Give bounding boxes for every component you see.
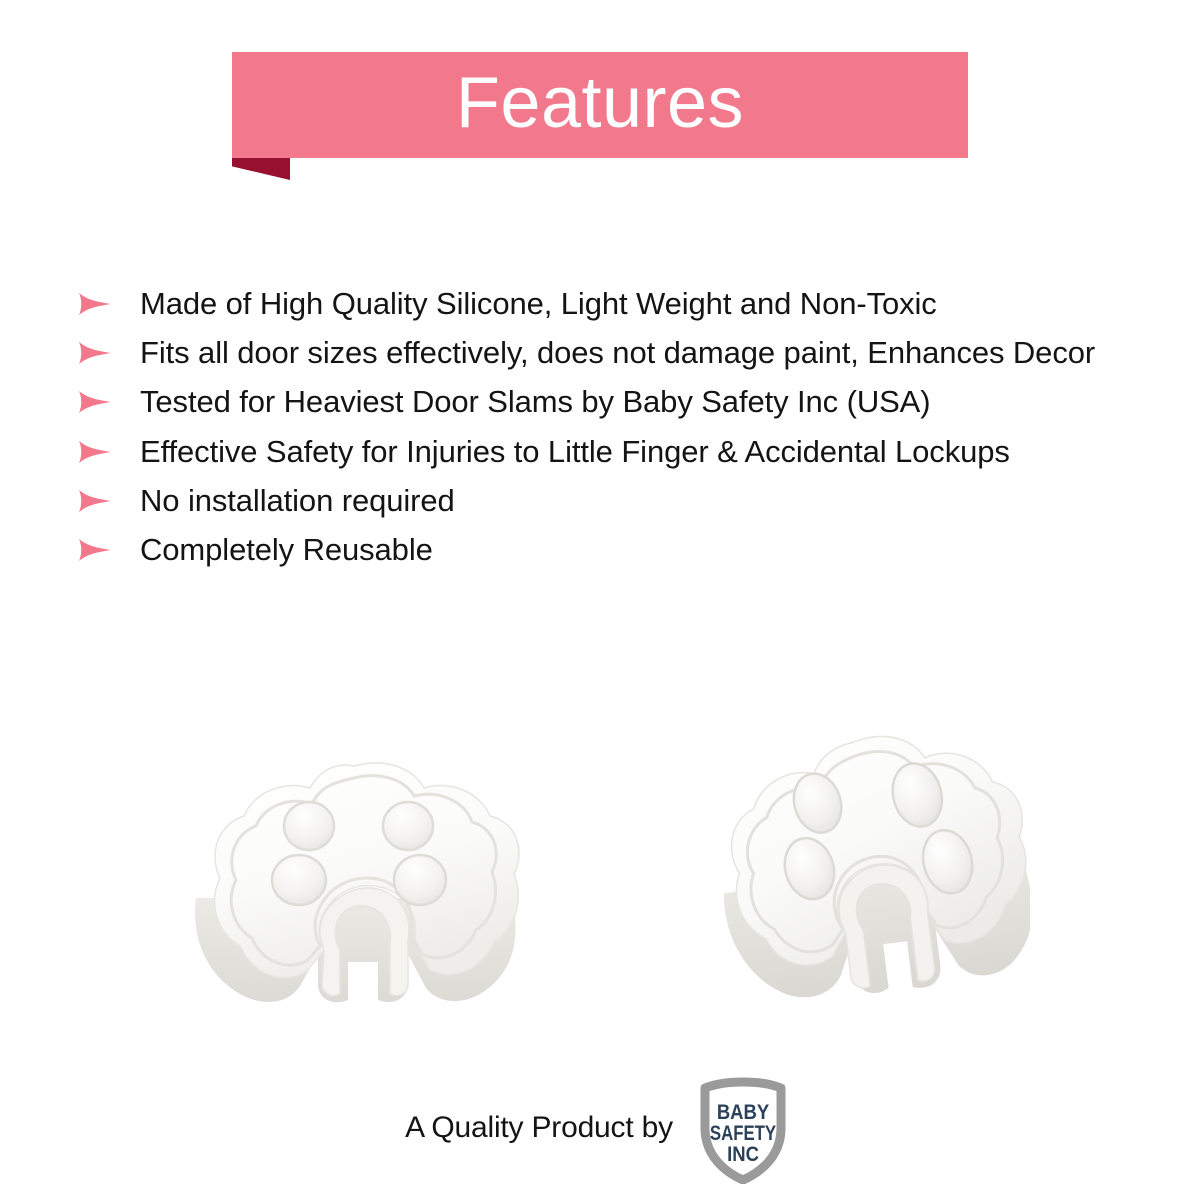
door-stopper-front-view xyxy=(168,748,538,1033)
feature-text: Completely Reusable xyxy=(140,529,433,570)
footer: A Quality Product by BABY SAFETY INC xyxy=(0,1072,1200,1184)
arrow-right-triangle-icon xyxy=(78,283,112,316)
list-item: Completely Reusable xyxy=(78,529,1168,570)
feature-text: Effective Safety for Injuries to Little … xyxy=(140,431,1010,472)
product-image-area xyxy=(0,726,1200,1046)
arrow-right-triangle-icon xyxy=(78,431,112,464)
list-item: Made of High Quality Silicone, Light Wei… xyxy=(78,283,1168,324)
banner-background: Features xyxy=(232,52,968,158)
feature-text: No installation required xyxy=(140,480,455,521)
list-item: Tested for Heaviest Door Slams by Baby S… xyxy=(78,381,1168,422)
list-item: Fits all door sizes effectively, does no… xyxy=(78,332,1168,373)
arrow-right-triangle-icon xyxy=(78,480,112,513)
page-title: Features xyxy=(456,67,744,139)
list-item: No installation required xyxy=(78,480,1168,521)
feature-text: Fits all door sizes effectively, does no… xyxy=(140,332,1095,373)
feature-text: Tested for Heaviest Door Slams by Baby S… xyxy=(140,381,930,422)
arrow-right-triangle-icon xyxy=(78,381,112,414)
feature-list: Made of High Quality Silicone, Light Wei… xyxy=(78,283,1168,578)
baby-safety-inc-shield-logo: BABY SAFETY INC xyxy=(691,1072,795,1184)
arrow-right-triangle-icon xyxy=(78,529,112,562)
door-stopper-angled-view xyxy=(700,726,1030,1051)
banner-ribbon-fold xyxy=(232,158,290,180)
list-item: Effective Safety for Injuries to Little … xyxy=(78,431,1168,472)
features-banner: Features xyxy=(232,52,968,158)
footer-tagline: A Quality Product by xyxy=(405,1111,673,1145)
feature-text: Made of High Quality Silicone, Light Wei… xyxy=(140,283,937,324)
logo-line-1: BABY xyxy=(717,1101,769,1124)
logo-line-3: INC xyxy=(727,1143,759,1166)
arrow-right-triangle-icon xyxy=(78,332,112,365)
